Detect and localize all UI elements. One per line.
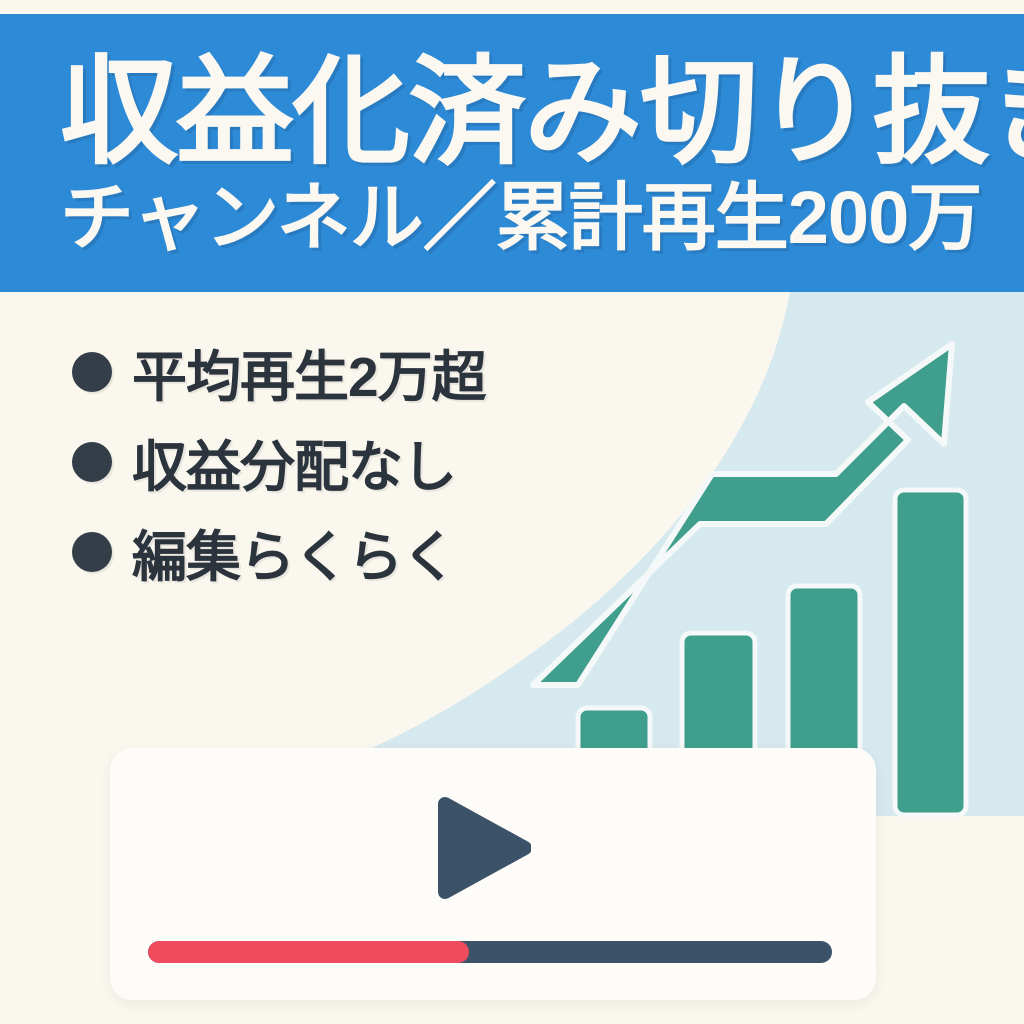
bullet-dot-icon [72, 352, 112, 392]
progress-bar-track[interactable] [148, 941, 832, 963]
progress-bar-fill[interactable] [148, 941, 469, 963]
feature-label: 収益分配なし [132, 422, 456, 502]
list-item: 収益分配なし [72, 420, 632, 504]
feature-label: 編集らくらく [132, 512, 456, 592]
poster-canvas: 収益化済み切り抜き チャンネル／累計再生200万 平均再生2万超 収益分配なし … [0, 0, 1024, 1024]
play-triangle-icon[interactable] [435, 796, 531, 900]
video-player-card[interactable] [110, 748, 876, 1000]
feature-label: 平均再生2万超 [132, 332, 486, 412]
chart-bar-4 [895, 490, 966, 815]
feature-list: 平均再生2万超 収益分配なし 編集らくらく [72, 330, 632, 600]
page-title: 収益化済み切り抜き [60, 53, 1024, 175]
bullet-dot-icon [72, 532, 112, 572]
list-item: 編集らくらく [72, 510, 632, 594]
list-item: 平均再生2万超 [72, 330, 632, 414]
page-subtitle: チャンネル／累計再生200万 [60, 179, 981, 257]
header-banner: 収益化済み切り抜き チャンネル／累計再生200万 [0, 14, 1024, 292]
bullet-dot-icon [72, 442, 112, 482]
